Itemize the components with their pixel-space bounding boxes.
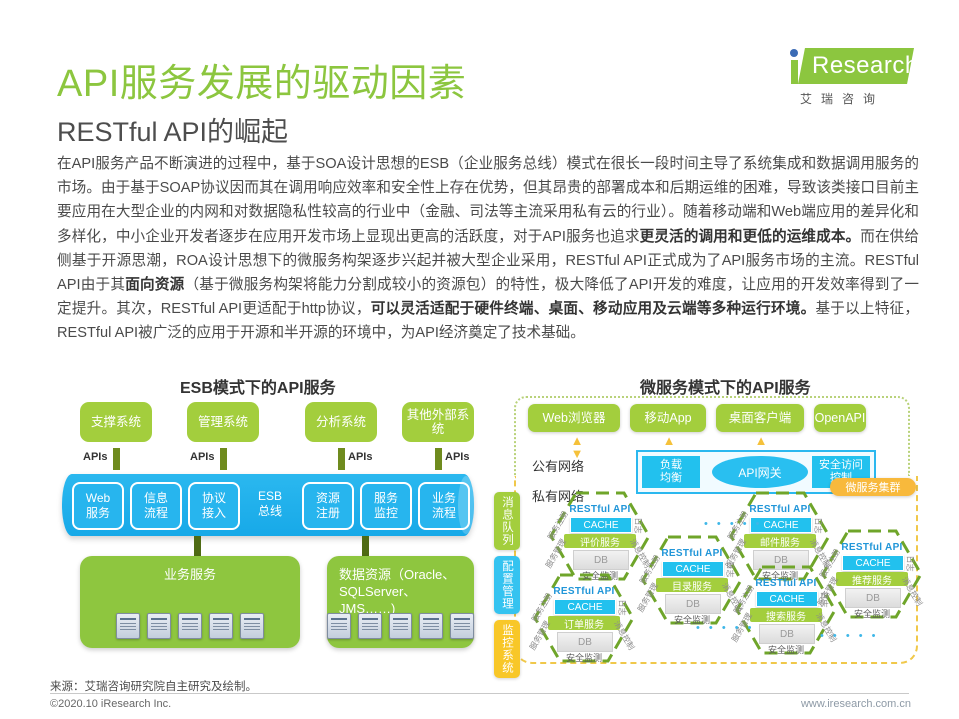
database-icon <box>450 613 474 639</box>
document-icon <box>116 613 140 639</box>
updown-arrow-icon: ▲▼ <box>570 436 584 458</box>
cell-line1: 服务 <box>374 491 398 505</box>
icon-row <box>80 613 300 639</box>
restful-api-label: RESTful API <box>742 504 818 515</box>
body-paragraph: 在API服务产品不断演进的过程中，基于SOA设计思想的ESB（企业服务总线）模式… <box>57 152 919 346</box>
para-bold-2: 面向资源 <box>125 277 184 293</box>
security-monitor-label: 安全监测 <box>748 643 824 656</box>
database-icon <box>327 613 351 639</box>
bus-label-line1: ESB <box>258 489 282 503</box>
iresearch-logo: Research 艾瑞咨询 <box>784 46 914 108</box>
db-box: DB <box>845 588 901 608</box>
security-monitor-label: 安全监测 <box>546 651 622 664</box>
client-box: 移动App <box>630 404 706 432</box>
service-name-label: 搜索服务 <box>750 608 822 622</box>
public-network-label: 公有网络 <box>532 456 584 475</box>
db-box: DB <box>665 594 721 614</box>
business-service-label: 业务服务 <box>80 566 300 583</box>
cell-line1: 信息 <box>144 491 168 505</box>
client-box: 桌面客户端 <box>716 404 804 432</box>
edge-label-log: 日志 <box>633 518 644 534</box>
esb-bus-center-label: ESB总线 <box>246 482 294 526</box>
restful-api-label: RESTful API <box>546 586 622 597</box>
document-icon <box>147 613 171 639</box>
api-label: APIs <box>348 451 372 463</box>
db-box: DB <box>557 632 613 652</box>
service-name-label: 推荐服务 <box>836 572 908 586</box>
cell-line2: 注册 <box>316 506 340 520</box>
dots-separator: • • • • • <box>820 630 878 642</box>
api-label: APIs <box>445 451 469 463</box>
data-resource-label: 数据资源（Oracle、SQLServer、JMS……) <box>327 566 474 617</box>
logo-i-stem-icon <box>791 60 798 84</box>
website-url[interactable]: www.iresearch.com.cn <box>801 698 911 710</box>
para-bold-1: 更灵活的调用和更低的运维成本。 <box>640 229 861 245</box>
document-icon <box>240 613 264 639</box>
diagram-area: ESB模式下的API服务 微服务模式下的API服务 支撑系统 管理系统 分析系统… <box>0 372 959 672</box>
db-box: DB <box>573 550 629 570</box>
gw-line1: 安全访问 <box>819 459 863 471</box>
edge-label-log: 日志 <box>905 556 916 572</box>
database-icon <box>389 613 413 639</box>
esb-bus-cell: 协议接入 <box>188 482 240 530</box>
service-hex-cell: RESTful APICACHE推荐服务DB安全监测服务注册服务管理日志消息控制 <box>820 528 924 620</box>
logo-wordmark: Research <box>812 52 919 80</box>
esb-system-box: 管理系统 <box>187 402 259 442</box>
slide-page: API服务发展的驱动因素 RESTful API的崛起 Research 艾瑞咨… <box>0 0 959 719</box>
client-box: Web浏览器 <box>528 404 620 432</box>
api-label: APIs <box>190 451 214 463</box>
cache-label: CACHE <box>570 517 632 533</box>
esb-bus-cell: Web服务 <box>72 482 124 530</box>
page-subtitle: RESTful API的崛起 <box>57 110 288 149</box>
service-hex-cell: RESTful APICACHE订单服务DB安全监测服务注册服务管理日志消息控制 <box>532 572 636 664</box>
api-connector <box>435 448 442 470</box>
logo-i-dot-icon <box>790 49 798 57</box>
cell-line2: 流程 <box>144 506 168 520</box>
side-tab-message-queue: 消息队列 <box>494 492 520 550</box>
microservices-diagram: Web浏览器 移动App 桌面客户端 OpenAPI ▲▼ ▲▼ ▲▼ 公有网络… <box>490 394 922 666</box>
database-icon <box>419 613 443 639</box>
esb-bus-cell: 业务流程 <box>418 482 470 530</box>
side-tab-config-management: 配置管理 <box>494 556 520 614</box>
logo-chinese-name: 艾瑞咨询 <box>800 90 884 107</box>
footer-divider <box>50 693 909 694</box>
database-icon <box>358 613 382 639</box>
cache-label: CACHE <box>662 561 724 577</box>
cell-line2: 服务 <box>86 506 110 520</box>
esb-bus-cell: 服务监控 <box>360 482 412 530</box>
esb-diagram: 支撑系统 管理系统 分析系统 其他外部系统 APIs APIs APIs API… <box>62 396 474 664</box>
business-service-box: 业务服务 <box>80 556 300 648</box>
service-hex-cell: RESTful APICACHE评价服务DB安全监测服务注册服务管理日志消息控制 <box>548 490 652 582</box>
cell-line1: 资源 <box>316 491 340 505</box>
api-connector <box>220 448 227 470</box>
dots-separator: • • • • • <box>704 518 762 530</box>
data-resource-box: 数据资源（Oracle、SQLServer、JMS……) <box>327 556 474 648</box>
copyright: ©2020.10 iResearch Inc. <box>50 698 171 710</box>
esb-system-box: 其他外部系统 <box>402 402 474 442</box>
service-name-label: 订单服务 <box>548 616 620 630</box>
cluster-badge: 微服务集群 <box>830 478 916 496</box>
restful-api-label: RESTful API <box>562 504 638 515</box>
restful-api-label: RESTful API <box>654 548 730 559</box>
source-note: 来源：艾瑞咨询研究院自主研究及绘制。 <box>50 678 257 694</box>
document-icon <box>178 613 202 639</box>
client-box: OpenAPI <box>814 404 866 432</box>
security-monitor-label: 安全监测 <box>834 607 910 620</box>
page-title: API服务发展的驱动因素 <box>57 52 466 107</box>
cell-line1: Web <box>86 491 110 505</box>
cache-label: CACHE <box>842 555 904 571</box>
logo-mark: Research <box>784 46 914 86</box>
bus-connector <box>362 536 369 558</box>
edge-label-log: 日志 <box>617 600 628 616</box>
esb-system-box: 支撑系统 <box>80 402 152 442</box>
api-label: APIs <box>83 451 107 463</box>
bus-connector <box>194 536 201 558</box>
restful-api-label: RESTful API <box>834 542 910 553</box>
gw-line1: 负载 <box>660 459 682 471</box>
esb-bus: Web服务 信息流程 协议接入 ESB总线 资源注册 服务监控 <box>62 474 474 536</box>
esb-bus-cell: 信息流程 <box>130 482 182 530</box>
cell-line2: 接入 <box>202 506 226 520</box>
cell-line2: 监控 <box>374 506 398 520</box>
bus-label-line2: 总线 <box>258 504 282 518</box>
service-name-label: 目录服务 <box>656 578 728 592</box>
cell-line1: 协议 <box>202 491 226 505</box>
service-name-label: 邮件服务 <box>744 534 816 548</box>
esb-bus-cell: 资源注册 <box>302 482 354 530</box>
document-icon <box>209 613 233 639</box>
restful-api-label: RESTful API <box>748 578 824 589</box>
cache-label: CACHE <box>554 599 616 615</box>
side-tab-monitoring-system: 监控系统 <box>494 620 520 678</box>
api-connector <box>113 448 120 470</box>
dots-separator: • • • • • <box>696 622 754 634</box>
db-box: DB <box>759 624 815 644</box>
para-bold-3: 可以灵活适配于硬件终端、桌面、移动应用及云端等多种运行环境。 <box>371 301 816 317</box>
icon-row <box>327 613 474 639</box>
service-name-label: 评价服务 <box>564 534 636 548</box>
esb-system-box: 分析系统 <box>305 402 377 442</box>
cell-line2: 流程 <box>432 506 456 520</box>
esb-diagram-title: ESB模式下的API服务 <box>180 374 336 398</box>
cell-line1: 业务 <box>432 491 456 505</box>
api-connector <box>338 448 345 470</box>
cache-label: CACHE <box>756 591 818 607</box>
